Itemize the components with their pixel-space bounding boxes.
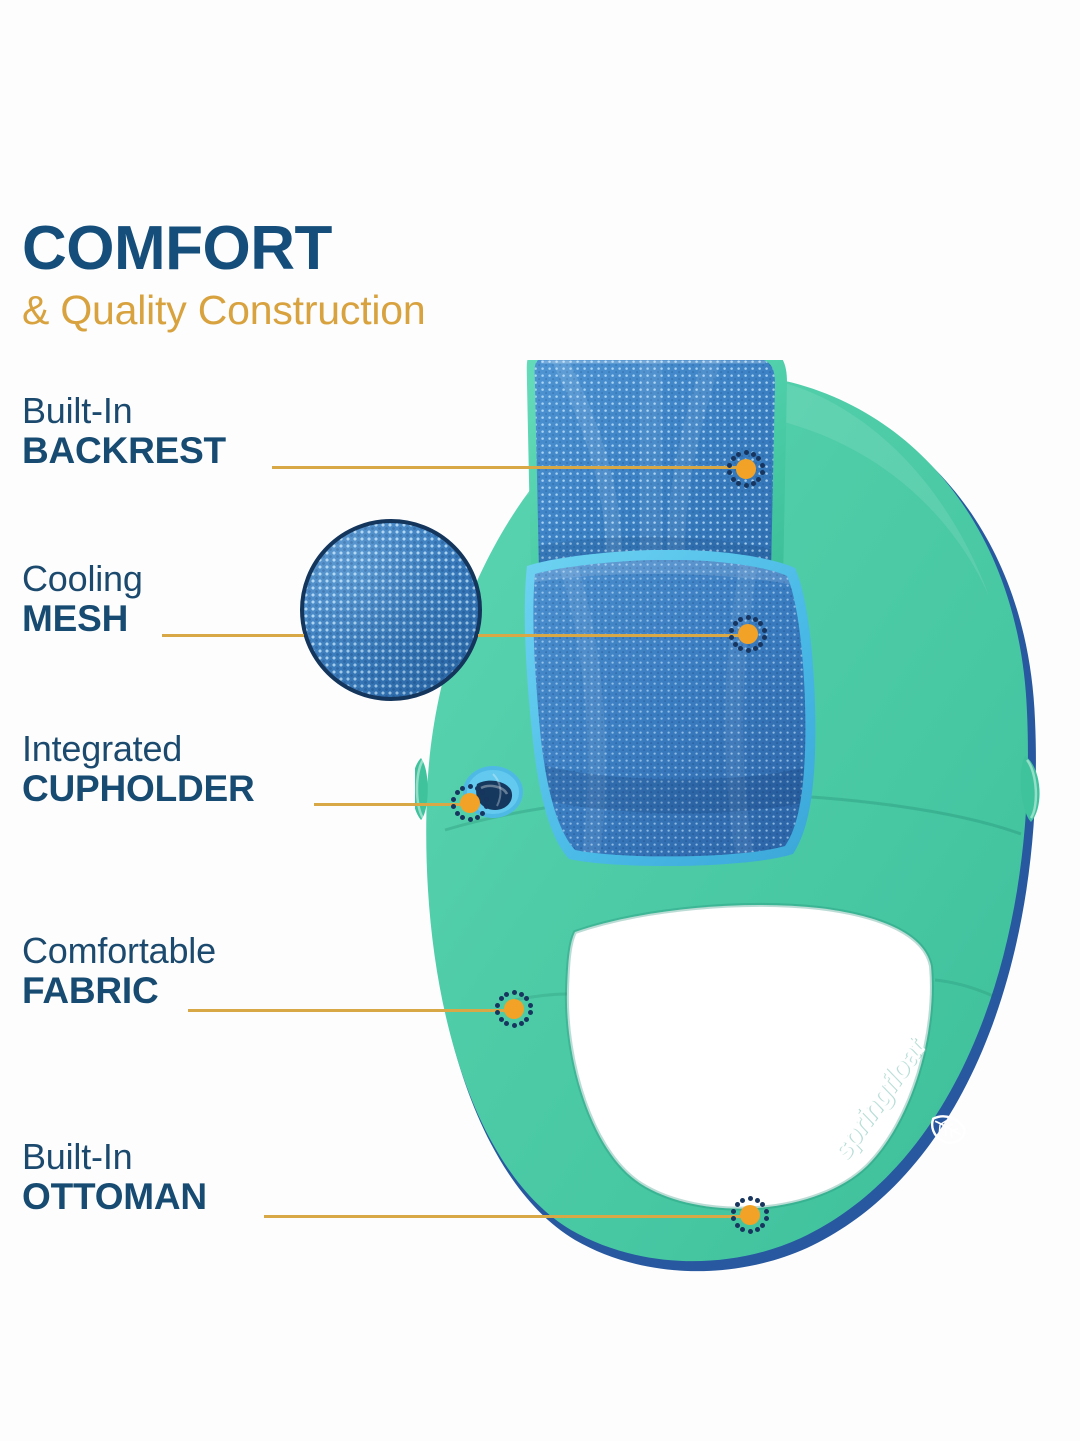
seat-mesh-panel <box>515 540 835 880</box>
marker-ring-dot <box>519 992 524 997</box>
marker-ring-dot <box>760 1223 765 1228</box>
marker-ring-dot <box>733 642 738 647</box>
marker-ring-dot <box>744 483 749 488</box>
ottoman-marker[interactable] <box>728 1193 772 1237</box>
marker-ring-dot <box>753 646 758 651</box>
marker-ring-dot <box>751 481 756 486</box>
marker-ring-dot <box>731 1216 736 1221</box>
marker-ring-dot <box>758 642 763 647</box>
marker-ring-dot <box>484 797 489 802</box>
infographic-canvas: COMFORT & Quality Construction <box>0 0 1080 1441</box>
leader-line-cupholder <box>314 803 470 806</box>
marker-ring-dot <box>762 628 767 633</box>
callout-backrest-prefix: Built-In <box>22 392 452 431</box>
cupholder-marker[interactable] <box>448 781 492 825</box>
marker-ring-dot <box>480 811 485 816</box>
callout-fabric: Comfortable FABRIC <box>22 932 452 1011</box>
callout-ottoman-title: OTTOMAN <box>22 1177 207 1217</box>
marker-ring-dot <box>528 1003 533 1008</box>
leader-line-mesh-right <box>478 634 746 637</box>
callout-fabric-prefix: Comfortable <box>22 932 452 971</box>
marker-ring-dot <box>524 1017 529 1022</box>
marker-ring-dot <box>746 615 751 620</box>
marker-ring-dot <box>756 477 761 482</box>
marker-ring-dot <box>740 1198 745 1203</box>
marker-ring-dot <box>764 1216 769 1221</box>
marker-ring-dot <box>740 1227 745 1232</box>
marker-ring-dot <box>744 450 749 455</box>
marker-ring-dot <box>455 790 460 795</box>
marker-core <box>740 1205 760 1225</box>
marker-ring-dot <box>475 786 480 791</box>
callout-backrest-title: BACKREST <box>22 431 226 471</box>
pool-float-illustration <box>415 360 1055 1290</box>
marker-ring-dot <box>755 1198 760 1203</box>
marker-ring-dot <box>519 1021 524 1026</box>
marker-ring-dot <box>460 786 465 791</box>
callout-mesh-prefix: Cooling <box>22 560 452 599</box>
product-image-pool-float <box>415 360 1055 1290</box>
marker-ring-dot <box>736 452 741 457</box>
marker-core <box>736 459 756 479</box>
marker-ring-dot <box>528 1010 533 1015</box>
marker-ring-dot <box>731 1209 736 1214</box>
marker-ring-dot <box>499 996 504 1001</box>
marker-ring-dot <box>733 621 738 626</box>
marker-ring-dot <box>499 1017 504 1022</box>
marker-ring-dot <box>727 463 732 468</box>
marker-ring-dot <box>758 621 763 626</box>
callout-ottoman-prefix: Built-In <box>22 1138 452 1177</box>
callout-ottoman: Built-In OTTOMAN <box>22 1138 452 1217</box>
marker-core <box>504 999 524 1019</box>
marker-ring-dot <box>451 797 456 802</box>
marker-ring-dot <box>455 811 460 816</box>
leader-line-mesh-left <box>162 634 304 637</box>
marker-ring-dot <box>731 477 736 482</box>
marker-ring-dot <box>760 463 765 468</box>
marker-ring-dot <box>729 628 734 633</box>
marker-ring-dot <box>468 817 473 822</box>
mesh-marker[interactable] <box>726 612 770 656</box>
leader-line-backrest <box>272 466 740 469</box>
marker-ring-dot <box>762 635 767 640</box>
backrest-marker[interactable] <box>724 447 768 491</box>
heading-block: COMFORT & Quality Construction <box>22 218 662 331</box>
marker-ring-dot <box>756 456 761 461</box>
marker-ring-dot <box>484 804 489 809</box>
marker-ring-dot <box>731 456 736 461</box>
marker-ring-dot <box>512 990 517 995</box>
marker-ring-dot <box>524 996 529 1001</box>
marker-ring-dot <box>480 790 485 795</box>
marker-ring-dot <box>512 1023 517 1028</box>
marker-ring-dot <box>735 1223 740 1228</box>
marker-ring-dot <box>746 648 751 653</box>
marker-ring-dot <box>460 815 465 820</box>
marker-ring-dot <box>451 804 456 809</box>
leader-line-fabric <box>188 1009 514 1012</box>
marker-ring-dot <box>504 992 509 997</box>
marker-ring-dot <box>727 470 732 475</box>
marker-ring-dot <box>736 481 741 486</box>
marker-ring-dot <box>751 452 756 457</box>
marker-ring-dot <box>495 1010 500 1015</box>
callout-fabric-title: FABRIC <box>22 971 159 1011</box>
marker-ring-dot <box>748 1196 753 1201</box>
marker-ring-dot <box>495 1003 500 1008</box>
marker-ring-dot <box>748 1229 753 1234</box>
marker-core <box>738 624 758 644</box>
callout-cupholder-prefix: Integrated <box>22 730 452 769</box>
marker-ring-dot <box>738 617 743 622</box>
marker-ring-dot <box>760 1202 765 1207</box>
callout-cupholder-title: CUPHOLDER <box>22 769 255 809</box>
page-title: COMFORT <box>22 218 662 280</box>
callout-mesh: Cooling MESH <box>22 560 452 639</box>
marker-ring-dot <box>753 617 758 622</box>
fabric-marker[interactable] <box>492 987 536 1031</box>
callout-mesh-title: MESH <box>22 599 128 639</box>
marker-core <box>460 793 480 813</box>
callout-cupholder: Integrated CUPHOLDER <box>22 730 452 809</box>
page-subtitle: & Quality Construction <box>22 290 662 331</box>
marker-ring-dot <box>764 1209 769 1214</box>
leader-line-ottoman <box>264 1215 750 1218</box>
marker-ring-dot <box>760 470 765 475</box>
marker-ring-dot <box>504 1021 509 1026</box>
marker-ring-dot <box>468 784 473 789</box>
marker-ring-dot <box>475 815 480 820</box>
marker-ring-dot <box>735 1202 740 1207</box>
callout-backrest: Built-In BACKREST <box>22 392 452 471</box>
marker-ring-dot <box>755 1227 760 1232</box>
marker-ring-dot <box>738 646 743 651</box>
marker-ring-dot <box>729 635 734 640</box>
